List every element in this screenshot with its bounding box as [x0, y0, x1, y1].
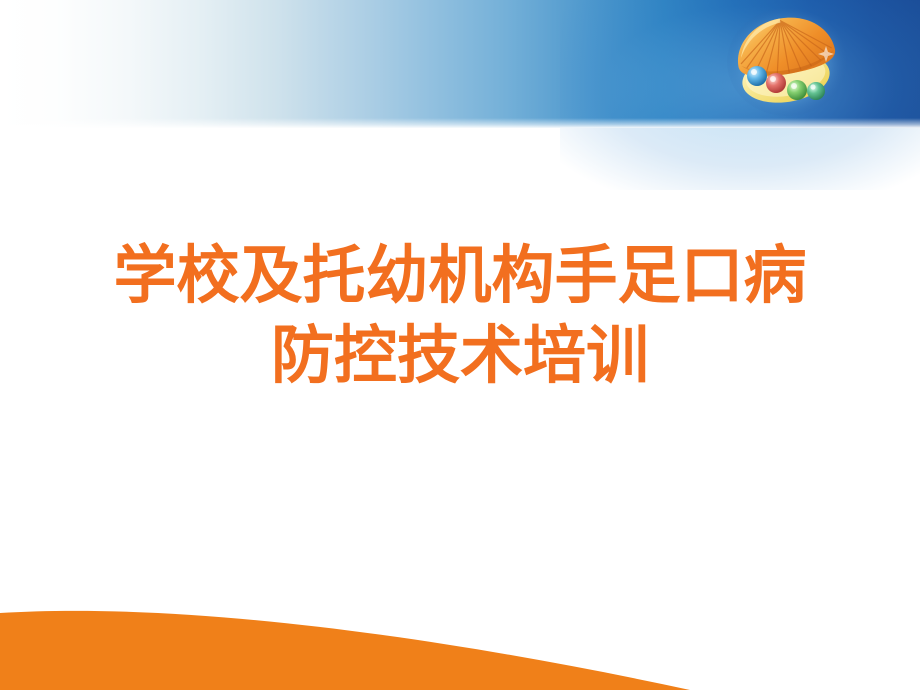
slide-title: 学校及托幼机构手足口病 防控技术培训	[0, 236, 920, 396]
footer-wave	[0, 560, 920, 690]
scallop-shell-with-pearls-logo	[726, 6, 848, 118]
title-slide: 学校及托幼机构手足口病 防控技术培训	[0, 0, 920, 690]
title-line-2: 防控技术培训	[0, 316, 920, 396]
title-line-1: 学校及托幼机构手足口病	[0, 236, 920, 316]
